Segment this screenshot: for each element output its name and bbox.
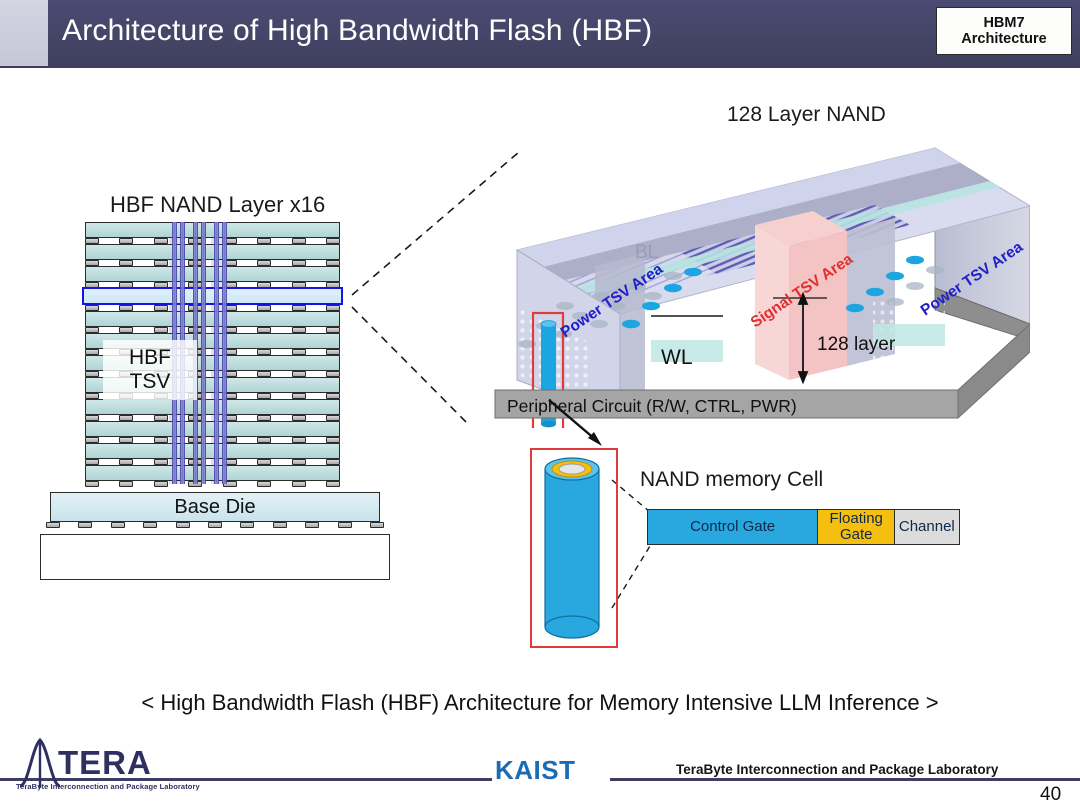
title-bar: Architecture of High Bandwidth Flash (HB… <box>0 0 1080 68</box>
microbump <box>305 522 319 528</box>
substrate <box>40 534 390 580</box>
base-die: Base Die <box>50 492 380 522</box>
cell-callout-arrow-head <box>588 432 602 446</box>
tsv-pillar <box>201 222 206 484</box>
microbump <box>257 481 271 487</box>
nand-layer <box>85 266 340 282</box>
stack-title: HBF NAND Layer x16 <box>110 192 325 218</box>
nand-layer <box>85 222 340 238</box>
microbump <box>370 522 384 528</box>
nand-layer <box>85 311 340 327</box>
cell-segment-control-gate: Control Gate <box>647 509 819 545</box>
wl-label: WL <box>661 346 693 369</box>
nand-layer <box>85 465 340 481</box>
kaist-logo-text: KAIST <box>495 755 576 786</box>
microbump <box>119 481 133 487</box>
microbump <box>111 522 125 528</box>
nand-cell-cylinder <box>537 453 607 643</box>
tera-logo-tagline: TeraByte Interconnection and Package Lab… <box>16 782 200 791</box>
microbump <box>273 522 287 528</box>
microbump <box>85 481 99 487</box>
nand3d-title: 128 Layer NAND <box>727 103 886 127</box>
microbump-row <box>85 481 340 487</box>
cell-segment-channel: Channel <box>894 509 960 545</box>
microbump <box>326 481 340 487</box>
nand-layer <box>85 443 340 459</box>
lab-name: TeraByte Interconnection and Package Lab… <box>676 762 998 777</box>
nand-cell-cross-section: Control Gate Floating Gate Channel <box>648 509 960 545</box>
status-badge: HBM7 Architecture <box>936 7 1072 55</box>
hbf-nand-stack: HBF TSV Base Die <box>40 222 400 572</box>
hbf-tsv-label-line2: TSV <box>130 370 171 394</box>
nand-cell-title: NAND memory Cell <box>640 468 823 492</box>
bl-label: BL <box>635 242 658 263</box>
tera-logo-text: TERA <box>58 744 152 782</box>
page-number: 40 <box>1040 784 1061 806</box>
microbump <box>208 522 222 528</box>
layer-count-label: 128 layer <box>817 334 896 355</box>
tsv-pillar <box>214 222 219 484</box>
microbump <box>46 522 60 528</box>
cell-segment-floating-gate: Floating Gate <box>817 509 895 545</box>
tsv-pillar <box>222 222 227 484</box>
microbump <box>240 522 254 528</box>
nand3d-block: Power TSV Area Signal TSV Area Power TSV… <box>455 128 1030 428</box>
nand-layer <box>85 244 340 260</box>
nand-layer <box>85 421 340 437</box>
base-die-label: Base Die <box>174 496 255 519</box>
status-badge-line1: HBM7 <box>983 15 1024 31</box>
microbump <box>78 522 92 528</box>
microbump <box>154 481 168 487</box>
microbump <box>176 522 190 528</box>
slide-root: Architecture of High Bandwidth Flash (HB… <box>0 0 1080 810</box>
hbf-tsv-label-line1: HBF <box>129 346 171 370</box>
title-bar-left-strip <box>0 0 48 66</box>
microbump <box>338 522 352 528</box>
microbump <box>143 522 157 528</box>
nand-layer-highlighted[interactable] <box>82 287 343 305</box>
microbump <box>292 481 306 487</box>
page-title: Architecture of High Bandwidth Flash (HB… <box>62 14 652 48</box>
hbf-tsv-label: HBF TSV <box>103 340 197 400</box>
microbump-row-basedie <box>46 522 384 528</box>
slide-caption: < High Bandwidth Flash (HBF) Architectur… <box>0 690 1080 716</box>
status-badge-line2: Architecture <box>961 31 1046 47</box>
peripheral-circuit-label: Peripheral Circuit (R/W, CTRL, PWR) <box>507 396 797 416</box>
nand-layer <box>85 399 340 415</box>
